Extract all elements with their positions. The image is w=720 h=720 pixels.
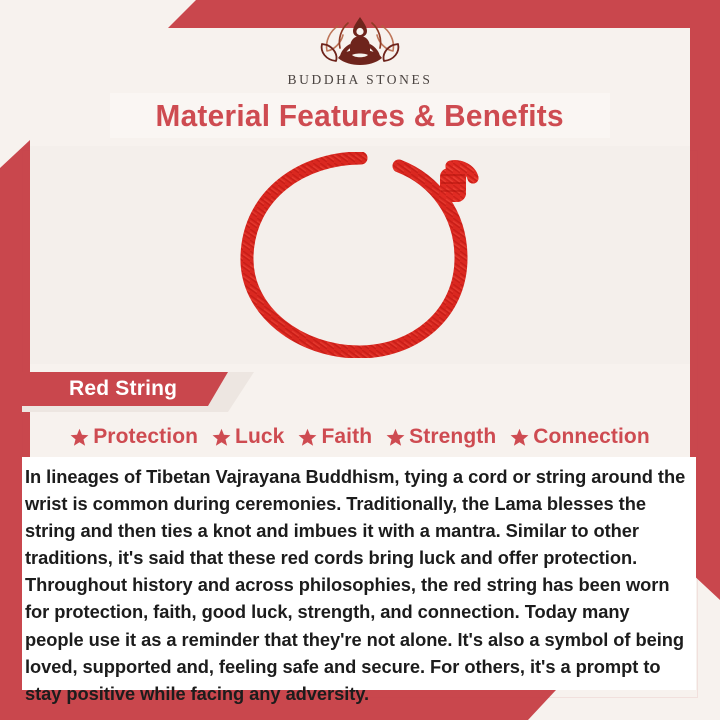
star-icon bbox=[386, 428, 405, 447]
benefit-label: Connection bbox=[533, 425, 650, 449]
description-text: In lineages of Tibetan Vajrayana Buddhis… bbox=[25, 463, 690, 707]
lotus-meditation-icon bbox=[308, 14, 412, 68]
star-icon bbox=[510, 428, 529, 447]
star-icon bbox=[212, 428, 231, 447]
description-panel: In lineages of Tibetan Vajrayana Buddhis… bbox=[22, 457, 696, 690]
star-icon bbox=[70, 428, 89, 447]
page-title-banner: Material Features & Benefits bbox=[110, 93, 610, 138]
page-title: Material Features & Benefits bbox=[156, 98, 564, 134]
benefit-label: Faith bbox=[321, 425, 372, 449]
benefit-item: Connection bbox=[504, 425, 656, 449]
infographic-page: BUDDHA STONES Material Features & Benefi… bbox=[0, 0, 720, 720]
benefit-item: Faith bbox=[292, 425, 378, 449]
benefit-item: Strength bbox=[380, 425, 502, 449]
benefit-item: Luck bbox=[206, 425, 290, 449]
brand-logo: BUDDHA STONES bbox=[0, 14, 720, 88]
brand-wordmark: BUDDHA STONES bbox=[288, 72, 433, 88]
star-icon bbox=[298, 428, 317, 447]
benefits-list: Protection Luck Faith Strength Connectio… bbox=[30, 420, 690, 454]
red-braided-string-bracelet-image bbox=[229, 152, 491, 358]
product-image-area bbox=[30, 146, 690, 364]
benefit-label: Protection bbox=[93, 425, 198, 449]
product-name-tab: Red String bbox=[22, 372, 228, 406]
benefit-item: Protection bbox=[64, 425, 204, 449]
benefit-label: Luck bbox=[235, 425, 284, 449]
product-name-label: Red String bbox=[69, 377, 177, 401]
benefit-label: Strength bbox=[409, 425, 496, 449]
